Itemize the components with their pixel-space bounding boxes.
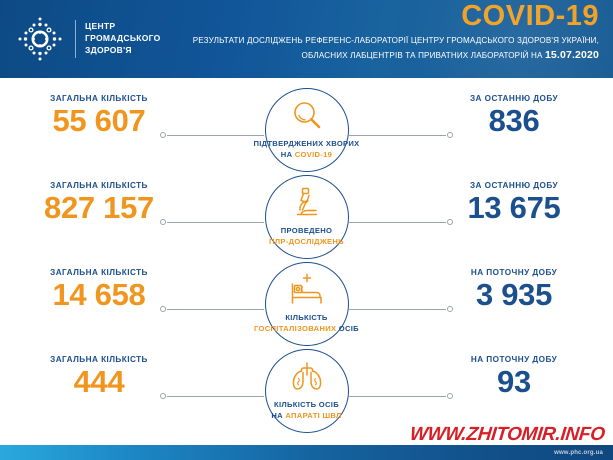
stat-caption: КІЛЬКІСТЬ ОСІБ НА АПАРАТІ ШВЛ <box>237 399 377 422</box>
stat-row-hospitalized: ЗАГАЛЬНА КІЛЬКІСТЬ 14 658 <box>0 260 613 350</box>
stat-label: НА ПОТОЧНУ ДОБУ <box>419 268 609 277</box>
stat-row-confirmed: ЗАГАЛЬНА КІЛЬКІСТЬ 55 607 ПІДТВЕРДЖЕНИХ … <box>0 86 613 176</box>
caption-line-1: ПІДТВЕРДЖЕНИХ ХВОРИХ <box>253 139 359 148</box>
logo-text-line3: ЗДОРОВ'Я <box>85 45 132 55</box>
connector-bar <box>167 222 264 223</box>
stat-daily-confirmed: ЗА ОСТАННЮ ДОБУ 836 <box>419 94 609 139</box>
connector-bar <box>167 396 264 397</box>
stat-center-tests: ПРОВЕДЕНО ПЛР-ДОСЛІДЖЕНЬ <box>265 175 349 259</box>
caption-line-2-highlight: ПЛР-ДОСЛІДЖЕНЬ <box>269 237 344 246</box>
stat-label: ЗАГАЛЬНА КІЛЬКІСТЬ <box>4 355 194 364</box>
caption-line-2-suffix: ОСІБ <box>336 324 359 333</box>
stat-value: 3 935 <box>419 278 609 313</box>
source-watermark: www.phc.org.ua <box>554 450 603 456</box>
stat-daily-hospitalized: НА ПОТОЧНУ ДОБУ 3 935 <box>419 268 609 313</box>
connector-bar <box>167 135 264 136</box>
caption-line-1: ПРОВЕДЕНО <box>281 226 332 235</box>
stat-value: 13 675 <box>419 191 609 226</box>
logo: ЦЕНТР ГРОМАДСЬКОГО ЗДОРОВ'Я <box>14 13 161 65</box>
stat-daily-ventilator: НА ПОТОЧНУ ДОБУ 93 <box>419 355 609 400</box>
stat-center-hospitalized: КІЛЬКІСТЬ ГОСПІТАЛІЗОВАНИХ ОСІБ <box>265 262 349 346</box>
stat-label: ЗА ОСТАННЮ ДОБУ <box>419 181 609 190</box>
stat-daily-tests: ЗА ОСТАННЮ ДОБУ 13 675 <box>419 181 609 226</box>
stat-label: ЗАГАЛЬНА КІЛЬКІСТЬ <box>4 94 194 103</box>
connector-dot <box>160 393 166 399</box>
caption-line-2-highlight: ГОСПІТАЛІЗОВАНИХ <box>254 324 336 333</box>
caption-line-1: КІЛЬКІСТЬ ОСІБ <box>274 400 339 409</box>
stats-rows: ЗАГАЛЬНА КІЛЬКІСТЬ 55 607 ПІДТВЕРДЖЕНИХ … <box>0 78 613 438</box>
stat-label: ЗАГАЛЬНА КІЛЬКІСТЬ <box>4 268 194 277</box>
connector-dot <box>160 132 166 138</box>
caption-line-1: КІЛЬКІСТЬ <box>285 313 327 322</box>
stat-label: ЗАГАЛЬНА КІЛЬКІСТЬ <box>4 181 194 190</box>
subtitle-line-2: ОБЛАСНИХ ЛАБЦЕНТРІВ ТА ПРИВАТНИХ ЛАБОРАТ… <box>302 51 545 60</box>
stat-caption: ПРОВЕДЕНО ПЛР-ДОСЛІДЖЕНЬ <box>237 225 377 248</box>
site-watermark: WWW.ZHITOMIR.INFO <box>409 425 606 444</box>
stat-label: НА ПОТОЧНУ ДОБУ <box>419 355 609 364</box>
phc-diamond-dots-logo-icon <box>14 13 66 65</box>
stat-label: ЗА ОСТАННЮ ДОБУ <box>419 94 609 103</box>
stat-center-ventilator: КІЛЬКІСТЬ ОСІБ НА АПАРАТІ ШВЛ <box>265 349 349 433</box>
hospital-bed-icon <box>265 268 349 312</box>
connector-dot <box>160 219 166 225</box>
subtitle-line-1: РЕЗУЛЬТАТИ ДОСЛІДЖЕНЬ РЕФЕРЕНС-ЛАБОРАТОР… <box>193 36 599 45</box>
stat-value: 93 <box>419 365 609 400</box>
magnifying-glass-icon <box>265 94 349 138</box>
stat-value: 836 <box>419 104 609 139</box>
caption-line-2-prefix: НА <box>271 411 285 420</box>
connector-dot <box>160 306 166 312</box>
caption-line-2-highlight: COVID-19 <box>295 150 332 159</box>
caption-line-2-highlight: АПАРАТІ ШВЛ <box>285 411 341 420</box>
logo-text-line2: ГРОМАДСЬКОГО <box>85 33 161 43</box>
logo-text-line1: ЦЕНТР <box>85 21 115 31</box>
connector-bar <box>167 309 264 310</box>
lungs-icon <box>265 355 349 399</box>
stat-center-confirmed: ПІДТВЕРДЖЕНИХ ХВОРИХ НА COVID-19 <box>265 88 349 172</box>
caption-line-2-prefix: НА <box>281 150 295 159</box>
report-date: 15.07.2020 <box>545 49 599 61</box>
page-title: COVID-19 <box>461 2 599 31</box>
stat-caption: ПІДТВЕРДЖЕНИХ ХВОРИХ НА COVID-19 <box>237 138 377 161</box>
logo-divider <box>75 20 76 58</box>
footer-bar <box>0 445 613 460</box>
stat-caption: КІЛЬКІСТЬ ГОСПІТАЛІЗОВАНИХ ОСІБ <box>237 312 377 335</box>
page-subtitle: РЕЗУЛЬТАТИ ДОСЛІДЖЕНЬ РЕФЕРЕНС-ЛАБОРАТОР… <box>193 34 599 64</box>
stat-row-tests: ЗАГАЛЬНА КІЛЬКІСТЬ 827 157 <box>0 173 613 263</box>
page-header: ЦЕНТР ГРОМАДСЬКОГО ЗДОРОВ'Я COVID-19 РЕЗ… <box>0 0 613 78</box>
microscope-icon <box>265 181 349 225</box>
logo-text: ЦЕНТР ГРОМАДСЬКОГО ЗДОРОВ'Я <box>85 21 161 56</box>
